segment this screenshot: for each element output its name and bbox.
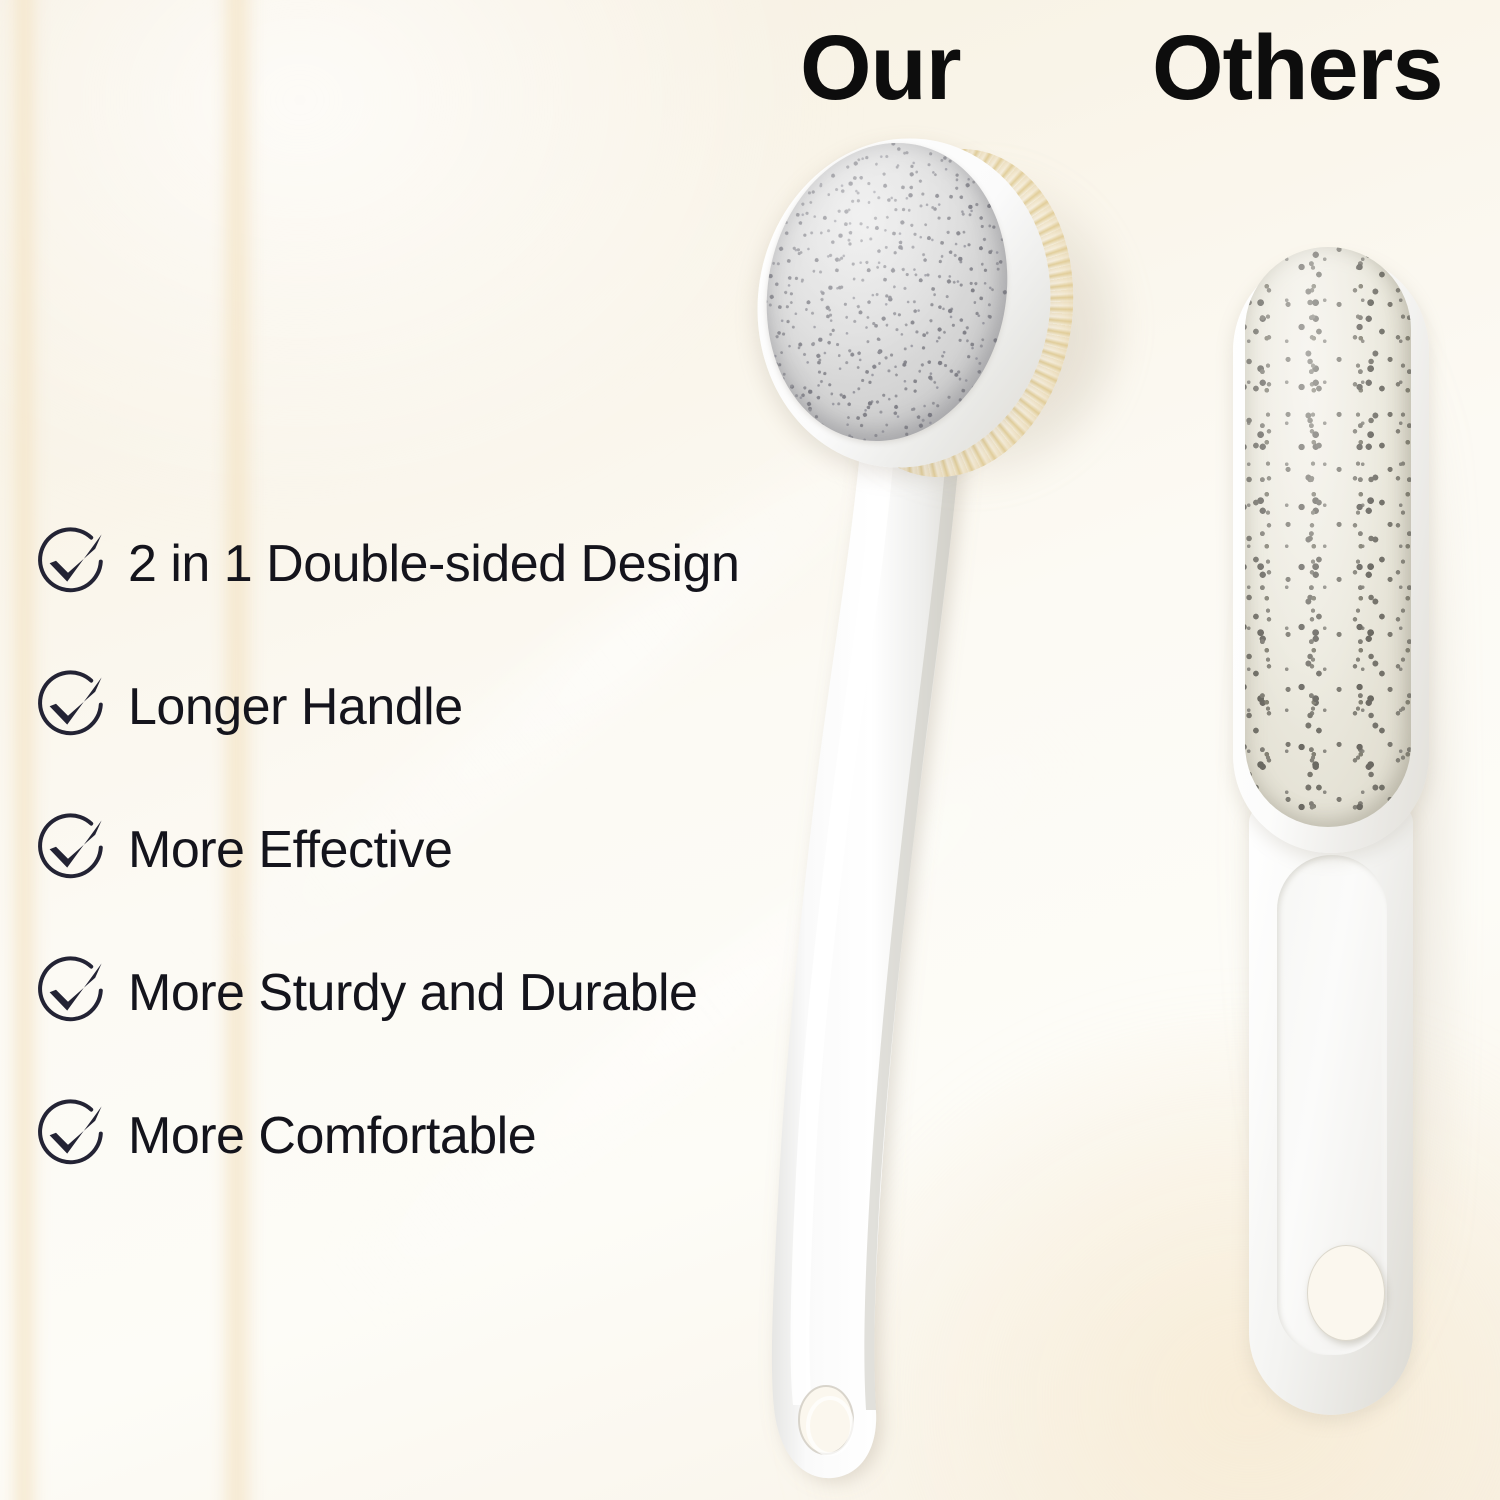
check-circle-icon: [32, 810, 112, 890]
feature-item: More Sturdy and Durable: [32, 921, 812, 1064]
header-our: Our: [800, 22, 961, 114]
feature-label: More Comfortable: [128, 1110, 536, 1162]
header-others: Others: [1152, 22, 1443, 114]
check-circle-icon: [32, 1096, 112, 1176]
feature-label: More Sturdy and Durable: [128, 967, 697, 1019]
feature-list: 2 in 1 Double-sided Design Longer Handle…: [32, 492, 812, 1207]
feature-label: Longer Handle: [128, 681, 463, 733]
feature-item: 2 in 1 Double-sided Design: [32, 492, 812, 635]
feature-item: More Comfortable: [32, 1064, 812, 1207]
check-circle-icon: [32, 667, 112, 747]
others-hanging-hole: [1307, 1245, 1385, 1341]
feature-item: More Effective: [32, 778, 812, 921]
feature-label: 2 in 1 Double-sided Design: [128, 538, 739, 590]
others-pumice-stone: [1245, 247, 1411, 827]
feature-item: Longer Handle: [32, 635, 812, 778]
our-product-image: [700, 120, 1120, 1500]
product-comparison-image: Our Others 2 in 1 Double-sided Design Lo…: [0, 0, 1500, 1500]
others-product-image: [1215, 245, 1465, 1425]
check-circle-icon: [32, 524, 112, 604]
feature-label: More Effective: [128, 824, 452, 876]
check-circle-icon: [32, 953, 112, 1033]
